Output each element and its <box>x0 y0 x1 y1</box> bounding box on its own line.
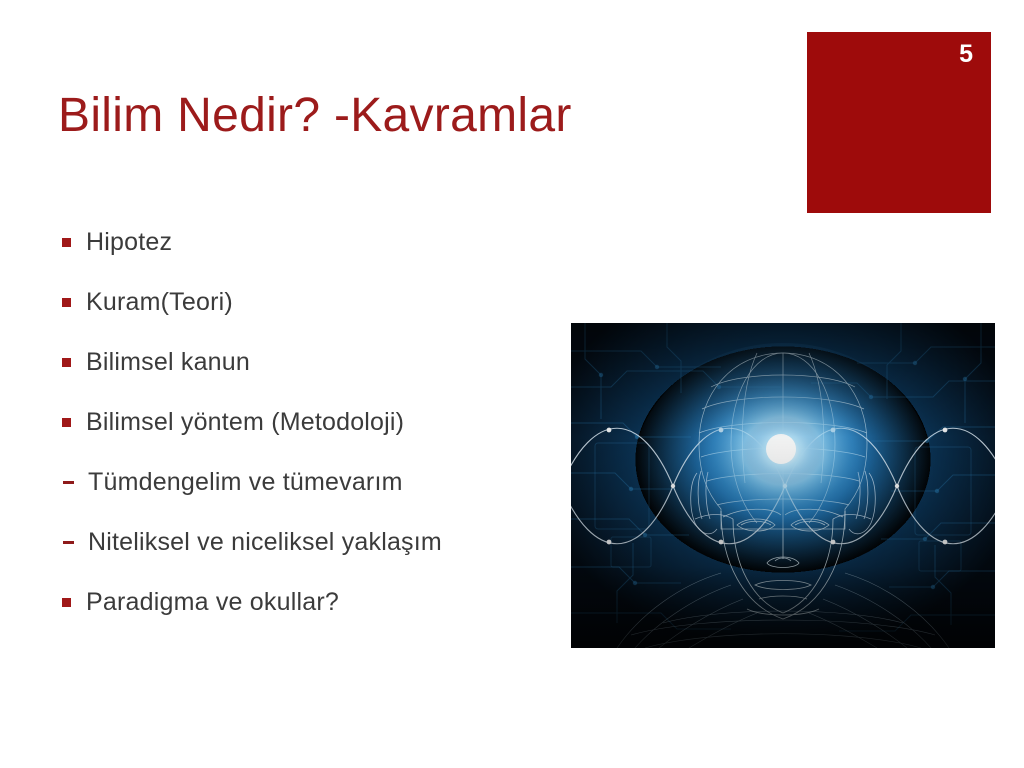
page-title: Bilim Nedir? -Kavramlar <box>58 88 572 143</box>
list-item-label: Bilimsel yöntem (Metodoloji) <box>86 410 404 435</box>
square-bullet-icon <box>58 418 86 427</box>
square-bullet-icon <box>58 238 86 247</box>
list-item: Bilimsel kanun <box>58 332 558 392</box>
list-item-label: Paradigma ve okullar? <box>86 590 339 615</box>
bullet-list: Hipotez Kuram(Teori) Bilimsel kanun Bili… <box>58 212 558 632</box>
square-bullet-icon <box>58 358 86 367</box>
list-item: Hipotez <box>58 212 558 272</box>
list-item: Bilimsel yöntem (Metodoloji) <box>58 392 558 452</box>
list-item-label: Tümdengelim ve tümevarım <box>86 470 403 495</box>
list-item: Kuram(Teori) <box>58 272 558 332</box>
wireframe-human-head-brain-waves-image <box>571 323 995 648</box>
square-bullet-icon <box>58 598 86 607</box>
slide-number-text: 5 <box>959 40 973 69</box>
list-item: Niteliksel ve niceliksel yaklaşım <box>58 512 558 572</box>
presentation-slide: 5 Bilim Nedir? -Kavramlar Hipotez Kuram(… <box>0 0 1024 768</box>
list-item: Tümdengelim ve tümevarım <box>58 452 558 512</box>
list-item-label: Kuram(Teori) <box>86 290 233 315</box>
slide-number-badge: 5 <box>807 32 991 213</box>
square-bullet-icon <box>58 298 86 307</box>
list-item: Paradigma ve okullar? <box>58 572 558 632</box>
list-item-label: Bilimsel kanun <box>86 350 250 375</box>
list-item-label: Hipotez <box>86 230 172 255</box>
list-item-label: Niteliksel ve niceliksel yaklaşım <box>86 530 442 555</box>
dash-bullet-icon <box>58 481 86 484</box>
dash-bullet-icon <box>58 541 86 544</box>
